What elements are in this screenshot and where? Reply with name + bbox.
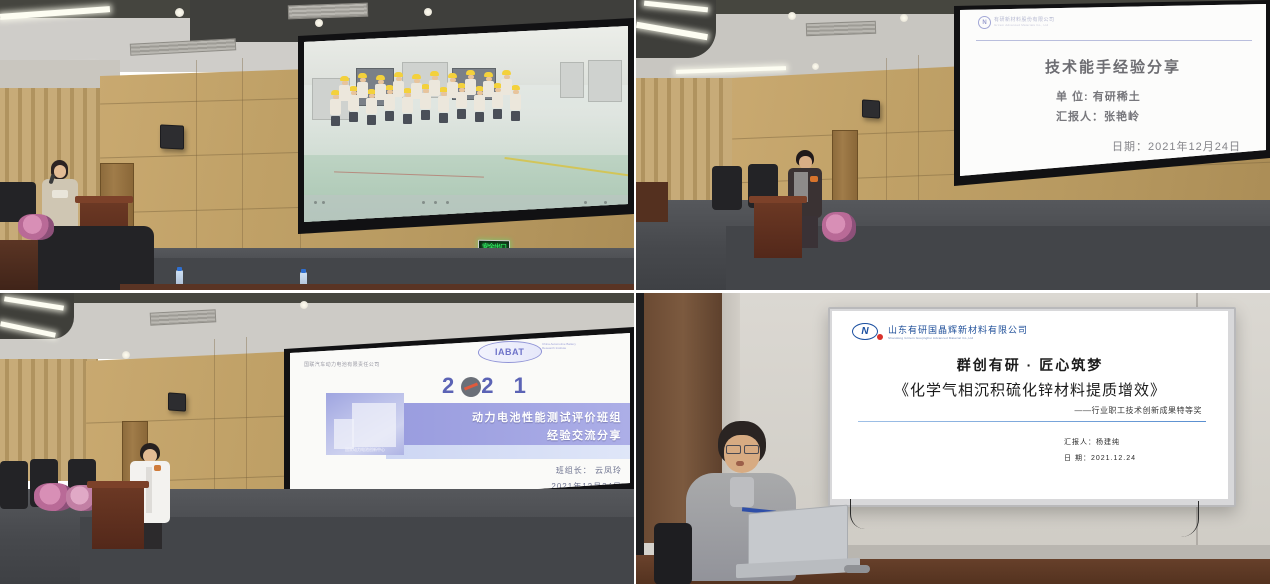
downlight: [788, 12, 796, 20]
side-table: [636, 182, 668, 222]
downlight: [812, 63, 819, 70]
slide-title: N 山东有研国晶辉新材料有限公司 Shandong Grirem Guojing…: [832, 311, 1228, 499]
factory-machine: [588, 60, 622, 102]
podium: [92, 481, 144, 549]
slide-title-line1: 动力电池性能测试评价班组: [410, 409, 622, 425]
wall-panel-seam-v: [242, 58, 243, 273]
iabat-logo-tagline: China Automotive Battery Research Instit…: [542, 342, 588, 350]
wall-speaker: [862, 99, 880, 118]
slide-unit-line: 单 位: 有研稀土: [1056, 88, 1141, 104]
front-table-edge: [120, 284, 634, 290]
projector-screen: N 有研新材料股份有限公司 Grirem Advanced Materials …: [960, 4, 1266, 176]
slide-award-text: ——行业职工技术创新成果特等奖: [952, 405, 1202, 416]
slide-company-name: 国联汽车动力电池有限责任公司: [304, 361, 380, 368]
foreground-chair: [38, 226, 154, 290]
downlight: [300, 301, 308, 309]
mouse[interactable]: [844, 565, 870, 573]
iabat-logo: IABAT: [476, 341, 543, 363]
slide-divider: [858, 421, 1206, 422]
ceiling-beam: [0, 293, 634, 303]
slide-factory-photo: [304, 26, 628, 222]
logo-red-dot-icon: [877, 334, 883, 340]
panel-top-right: N 有研新材料股份有限公司 Grirem Advanced Materials …: [636, 0, 1270, 290]
company-logo: N 山东有研国晶辉新材料有限公司 Shandong Grirem Guojing…: [852, 323, 1028, 340]
panel-bottom-right: N 山东有研国晶辉新材料有限公司 Shandong Grirem Guojing…: [636, 293, 1270, 584]
chair: [0, 461, 28, 509]
wall-panel-seam-v: [196, 60, 197, 270]
wall-speaker: [160, 124, 184, 149]
slide-presenter: 班组长： 云凤玲: [410, 465, 622, 476]
logo-english-name: Shandong Grirem Guojinghui Advanced Mate…: [888, 336, 1028, 340]
panel-top-left: 安全出口: [0, 0, 634, 290]
ceiling-vent: [288, 3, 368, 20]
room-door[interactable]: [832, 130, 858, 210]
slide-subtitle-text: 《化学气相沉积硫化锌材料提质增效》: [832, 379, 1228, 400]
slide-date-line: 日期：2021年12月24日: [1112, 138, 1241, 154]
downlight: [315, 19, 323, 27]
office-chair: [654, 523, 692, 584]
projector-screen: 国联汽车动力电池有限责任公司 IABAT China Automotive Ba…: [290, 333, 630, 505]
slide-title: 国联汽车动力电池有限责任公司 IABAT China Automotive Ba…: [290, 333, 630, 505]
year-zero-mark-icon: [461, 377, 481, 397]
panel-bottom-left: 国联汽车动力电池有限责任公司 IABAT China Automotive Ba…: [0, 293, 634, 584]
slide-year: 2021 22 1: [442, 373, 533, 399]
slide-date: 日 期：2021.12.24: [1064, 453, 1136, 463]
tv-screen: N 山东有研国晶辉新材料有限公司 Shandong Grirem Guojing…: [832, 311, 1228, 499]
slide-title-line2: 经验交流分享: [410, 427, 622, 443]
company-logo: N 有研新材料股份有限公司 Grirem Advanced Materials …: [978, 16, 1055, 29]
ceiling-vent: [806, 21, 876, 36]
desk-back-edge: [806, 545, 1270, 559]
slide-title-text: 群创有研 · 匠心筑梦: [832, 355, 1228, 375]
slide-title: N 有研新材料股份有限公司 Grirem Advanced Materials …: [960, 4, 1266, 176]
header-divider: [976, 40, 1252, 41]
slide-presenter-line: 汇报人：张艳岭: [1056, 108, 1140, 124]
projector-screen: [304, 26, 628, 222]
slide-presenter: 汇报人：杨建纯: [1064, 437, 1120, 447]
downlight: [424, 8, 432, 16]
left-dark-edge: [636, 293, 644, 584]
flower-bouquet: [18, 214, 54, 240]
grirem-mark-icon: N: [978, 16, 991, 29]
slide-band-2: [386, 445, 630, 459]
slide-image-caption: 国家动力电池创新中心: [326, 447, 404, 453]
downlight: [122, 351, 130, 359]
downlight: [175, 8, 184, 17]
slide-building-image: 国家动力电池创新中心: [326, 393, 404, 455]
logo-chinese-name: 山东有研国晶辉新材料有限公司: [888, 323, 1028, 336]
slide-title-text: 技术能手经验分享: [960, 56, 1266, 77]
flower-bouquet: [822, 212, 856, 242]
logo-english-name: Grirem Advanced Materials Co., Ltd: [994, 23, 1055, 27]
photo-collage: 安全出口: [0, 0, 1270, 584]
podium: [754, 196, 802, 258]
chair: [712, 166, 742, 210]
grirem-mark-icon: N: [852, 323, 878, 340]
iabat-logo-text: IABAT: [495, 347, 524, 357]
factory-machine: [560, 62, 584, 98]
wall-speaker: [168, 392, 186, 411]
downlight: [900, 14, 908, 22]
